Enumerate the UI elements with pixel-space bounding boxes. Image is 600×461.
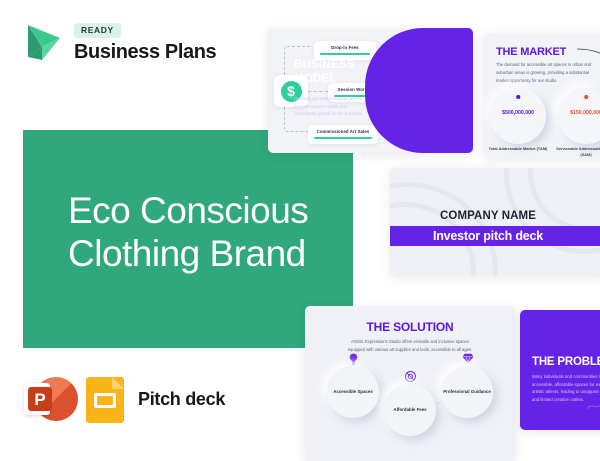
business-model-item-label: Commissioned Art Sales: [314, 129, 372, 134]
slide-the-problem[interactable]: THE PROBLEM Many individuals and communi…: [520, 310, 600, 430]
solution-node: Affordable Fees: [384, 384, 436, 436]
business-model-connector: [308, 91, 328, 92]
business-model-title-line-1: BUSINESS: [294, 59, 354, 73]
business-model-description: Revenue generation through diverse strea…: [294, 95, 368, 118]
market-metric-dot: [584, 95, 588, 99]
solution-title: THE SOLUTION: [305, 320, 515, 334]
slide-business-model[interactable]: $ Drop-in Fees Session Workshops Commiss…: [268, 28, 473, 153]
business-model-item: Commissioned Art Sales: [308, 125, 378, 144]
squiggle-icon: [586, 398, 600, 408]
solution-node: Accessible Spaces: [327, 366, 379, 418]
powerpoint-letter: P: [28, 387, 52, 411]
business-model-title: BUSINESS MODEL: [294, 59, 354, 86]
market-metric-caption: Total Addressable Market (TAM): [486, 146, 550, 152]
poster-canvas: READY Business Plans Eco Conscious Cloth…: [0, 0, 600, 461]
market-metric: $150,000,000 Serviceable Addressable Mar…: [558, 88, 600, 144]
business-model-item-bar: [314, 137, 372, 139]
business-model-panel: [365, 28, 473, 153]
diamond-icon: [462, 353, 474, 366]
market-metric: $500,000,000 Total Addressable Market (T…: [490, 88, 546, 144]
solution-description: Artistic Expressions Studio offers versa…: [347, 338, 473, 353]
hero-title-line-2: Clothing Brand: [68, 233, 368, 276]
market-metric-value: $150,000,000: [558, 110, 600, 116]
market-metric-value: $500,000,000: [490, 110, 546, 116]
hero-title-line-1: Eco Conscious: [68, 190, 368, 233]
ready-badge: READY: [74, 23, 121, 38]
play-triangle-logo-icon: [22, 18, 64, 64]
slide-company-name[interactable]: COMPANY NAME Investor pitch deck: [390, 168, 600, 276]
google-slides-icon: [86, 375, 124, 423]
market-title: THE MARKET: [496, 46, 566, 58]
business-model-item-label: Drop-in Fees: [320, 45, 370, 50]
company-subtitle: Investor pitch deck: [390, 229, 586, 243]
solution-node-label: Professional Guidance: [443, 389, 491, 396]
format-label: Pitch deck: [138, 389, 225, 410]
hero-title: Eco Conscious Clothing Brand: [68, 190, 368, 276]
market-metric-caption: Serviceable Addressable Market (SAM): [554, 146, 600, 157]
slide-the-solution[interactable]: THE SOLUTION Artistic Expressions Studio…: [305, 306, 515, 461]
slides-inner-frame: [94, 393, 116, 408]
problem-title: THE PROBLEM: [532, 356, 600, 368]
solution-node-label: Affordable Fees: [393, 407, 426, 414]
business-model-item-bar: [320, 53, 370, 55]
market-description: The demand for accessible art spaces in …: [496, 61, 598, 84]
brand-name: Business Plans: [74, 41, 216, 64]
business-model-item: Drop-in Fees: [314, 41, 376, 60]
brand-text: READY Business Plans: [74, 18, 216, 64]
brand-logo: READY Business Plans: [22, 18, 216, 64]
market-metrics: $500,000,000 Total Addressable Market (T…: [490, 88, 600, 144]
company-name: COMPANY NAME: [390, 210, 586, 222]
format-badges: P Pitch deck: [24, 375, 225, 423]
decorative-arcs: [390, 168, 600, 276]
solution-node-label: Accessible Spaces: [333, 389, 373, 396]
target-icon: [405, 371, 416, 384]
slide-the-market[interactable]: THE MARKET The demand for accessible art…: [484, 33, 600, 158]
hero-panel: Eco Conscious Clothing Brand: [23, 130, 353, 348]
business-model-title-line-2: MODEL: [294, 73, 354, 87]
market-metric-dot: [516, 95, 520, 99]
powerpoint-icon: P: [24, 375, 72, 423]
solution-node: Professional Guidance: [441, 366, 493, 418]
